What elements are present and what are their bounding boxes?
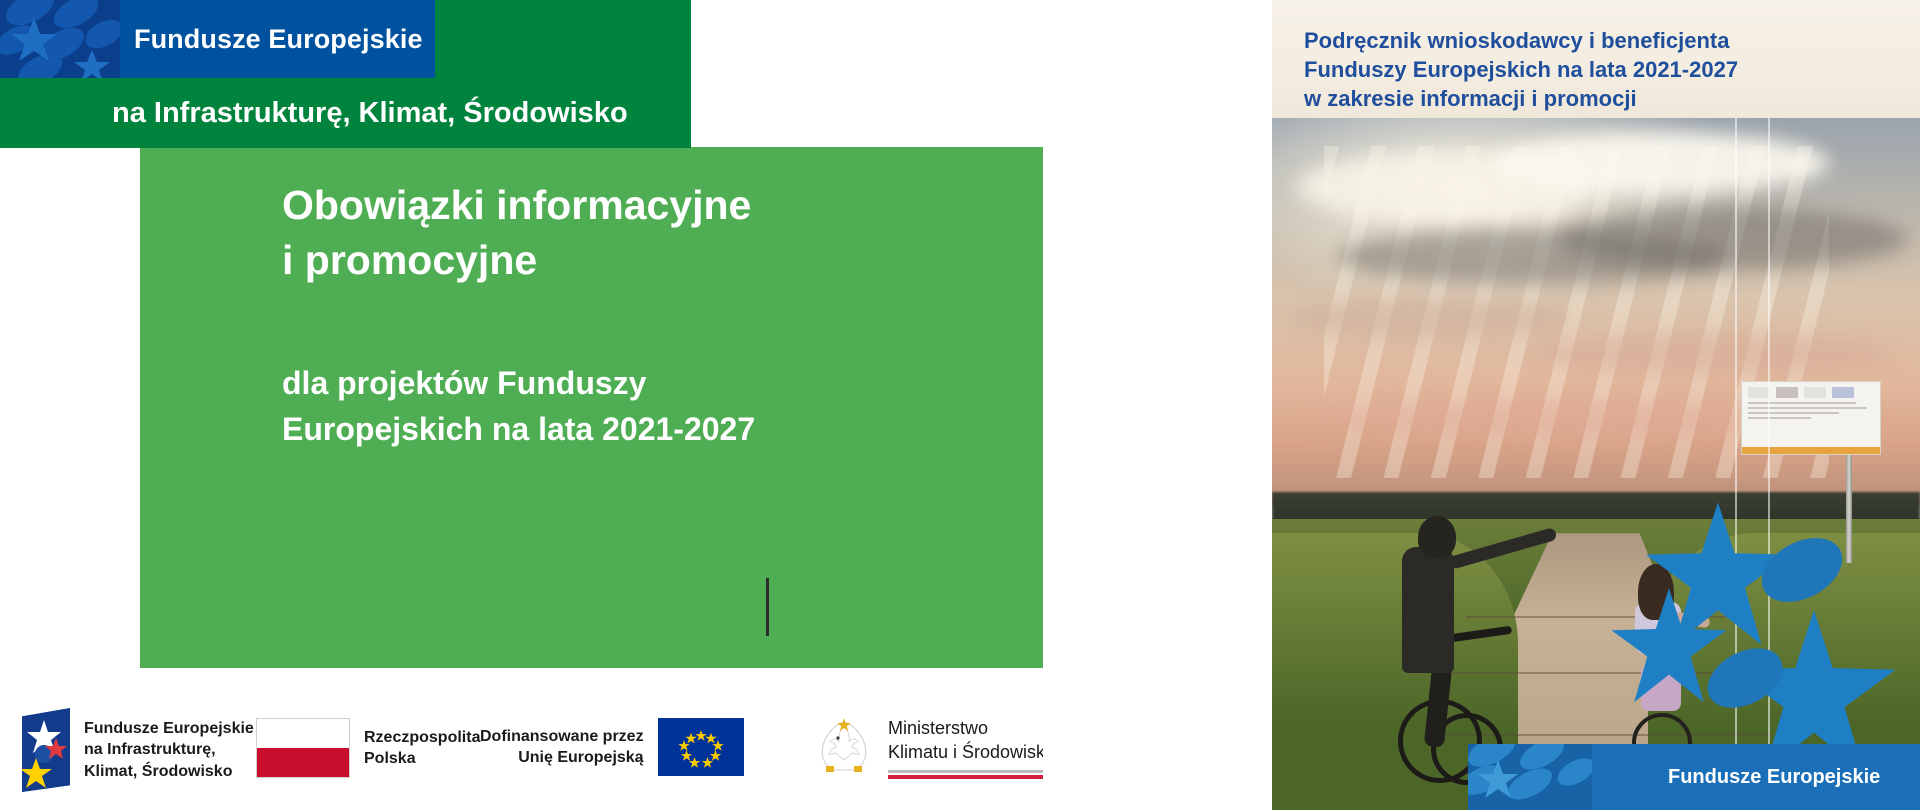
ministry-text-wrap: Ministerstwo Klimatu i Środowiska (888, 717, 1043, 778)
right-image-area: Podręcznik wnioskodawcy i beneficjenta F… (1043, 0, 1920, 810)
child-head (1638, 564, 1674, 620)
info-board-post (1846, 443, 1852, 563)
cover-badge-label: Fundusze Europejskie (1668, 766, 1880, 789)
badge-stars-icon (1468, 744, 1592, 810)
polish-eagle-icon (812, 714, 876, 782)
board-line (1748, 412, 1839, 414)
child-trousers (1641, 665, 1681, 711)
flag-white-stripe (257, 719, 349, 748)
cyclists-photograph (1272, 118, 1920, 810)
board-text-lines (1742, 398, 1880, 426)
footer-poland-label: Rzeczpospolita Polska (364, 727, 480, 769)
handbook-cover-image: Podręcznik wnioskodawcy i beneficjenta F… (1272, 0, 1920, 810)
fundusze-europejskie-logo-block: Fundusze Europejskie (0, 0, 435, 78)
cloud (1492, 132, 1829, 194)
footer-ministry-logo: Ministerstwo Klimatu i Środowiska (812, 714, 1043, 782)
slide-canvas: na Infrastrukturę, Klimat, Środowisko Fu… (0, 0, 1920, 810)
board-line (1748, 407, 1866, 409)
eu-flag-icon (658, 718, 744, 776)
cover-title: Podręcznik wnioskodawcy i beneficjenta F… (1304, 26, 1884, 113)
ministry-red-rule (888, 775, 1043, 779)
poland-flag-icon (256, 718, 350, 778)
footer-logo-strip: Fundusze Europejskie na Infrastrukturę, … (0, 690, 1043, 810)
project-info-board (1741, 381, 1881, 455)
board-logo-pl (1776, 387, 1798, 398)
footer-fundusze-europejskie-logo: Fundusze Europejskie na Infrastrukturę, … (22, 708, 254, 792)
cloud (1531, 333, 1894, 375)
board-logo-eu (1832, 387, 1854, 398)
fe-flag-svg (22, 708, 70, 792)
fe-stars-icon (0, 0, 120, 78)
fe-flag-icon (22, 708, 70, 792)
cover-fundusze-europejskie-badge: Fundusze Europejskie (1468, 744, 1920, 810)
footer-vertical-divider (766, 578, 769, 636)
adult-cyclist-torso (1402, 547, 1454, 673)
cover-guide-line (1735, 118, 1737, 810)
footer-fe-logo-text: Fundusze Europejskie na Infrastrukturę, … (84, 718, 254, 781)
left-slide-area: na Infrastrukturę, Klimat, Środowisko Fu… (0, 0, 1043, 810)
eu-flag-svg (658, 718, 744, 776)
badge-stars-svg (1468, 744, 1592, 810)
footer-eu-funding-label: Dofinansowane przez Unię Europejską (480, 726, 644, 768)
board-line (1748, 417, 1811, 419)
page-title: Obowiązki informacyjne i promocyjne (282, 178, 1002, 288)
polish-eagle-svg (812, 714, 876, 782)
ministry-grey-rule (888, 770, 1043, 773)
flag-red-stripe (257, 748, 349, 777)
cover-guide-line (1768, 118, 1770, 810)
programme-band-label: na Infrastrukturę, Klimat, Środowisko (112, 78, 628, 148)
board-line (1748, 402, 1856, 404)
board-logos-row (1742, 382, 1880, 398)
board-bottom-strip (1742, 447, 1880, 454)
footer-ministry-label: Ministerstwo Klimatu i Środowiska (888, 717, 1043, 763)
board-logo-min (1804, 387, 1826, 398)
footer-eu-funding-logo: Dofinansowane przez Unię Europejską (480, 718, 744, 776)
fundusze-europejskie-label: Fundusze Europejskie (134, 0, 435, 78)
fe-stars-svg (0, 0, 120, 78)
footer-poland-logo: Rzeczpospolita Polska (256, 718, 480, 778)
page-subtitle: dla projektów Funduszy Europejskich na l… (282, 360, 1002, 453)
path-seam (1447, 672, 1745, 674)
cloud (1557, 208, 1907, 270)
cloud (1285, 298, 1570, 340)
adult-cyclist-head (1418, 516, 1456, 558)
